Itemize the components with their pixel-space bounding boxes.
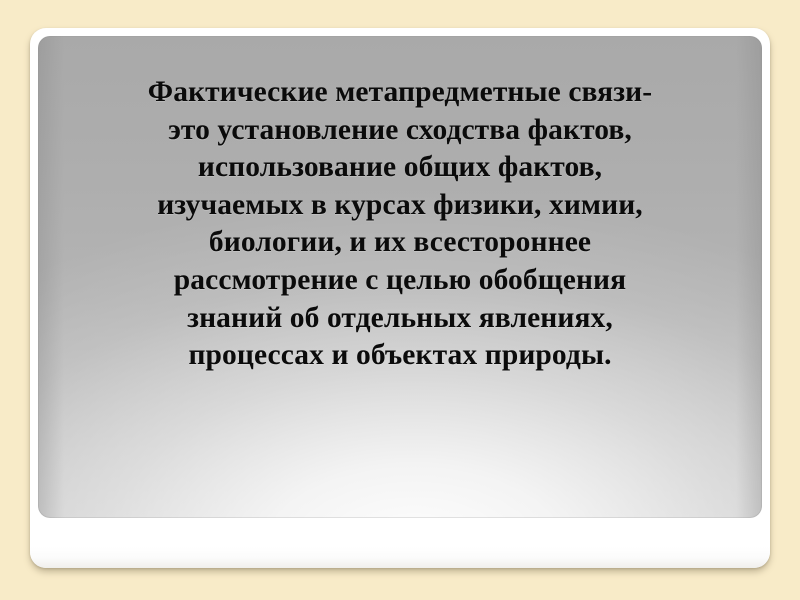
slide-body-text: Фактические метапредметные связи- это ус… xyxy=(38,74,762,375)
slide-text-line-5: биологии, и их всестороннее xyxy=(64,224,736,262)
slide-text-line-6: рассмотрение с целью обобщения xyxy=(64,262,736,300)
slide-text-line-2: это установление сходства фактов, xyxy=(64,112,736,150)
slide-content-panel: Фактические метапредметные связи- это ус… xyxy=(38,36,762,518)
slide-text-line-4: изучаемых в курсах физики, химии, xyxy=(64,187,736,225)
slide-text-line-7: знаний об отдельных явлениях, xyxy=(64,300,736,338)
slide-card: Фактические метапредметные связи- это ус… xyxy=(30,28,770,568)
slide-root: Фактические метапредметные связи- это ус… xyxy=(0,0,800,600)
slide-text-line-1: Фактические метапредметные связи- xyxy=(64,74,736,112)
slide-text-line-8: процессах и объектах природы. xyxy=(64,337,736,375)
card-bottom-band xyxy=(30,512,770,568)
slide-text-line-3: использование общих фактов, xyxy=(64,149,736,187)
